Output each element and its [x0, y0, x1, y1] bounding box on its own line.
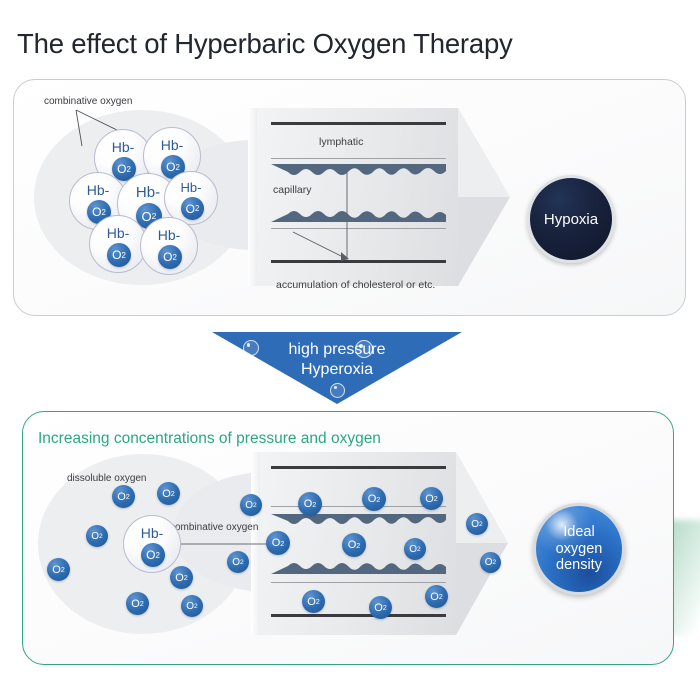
oxygen-molecule: O2 [298, 492, 322, 516]
hemoglobin-label: Hb- [90, 225, 146, 241]
oxygen-molecule: O2 [240, 494, 262, 516]
oxygen-molecule: O2 [112, 485, 135, 508]
hemoglobin-label: Hb- [141, 227, 197, 243]
cap-outer-top-b [271, 466, 446, 469]
bubble-icon-3 [330, 383, 345, 398]
cap-outer-bottom-b [271, 614, 446, 617]
cap-inner-bottom-b [271, 582, 446, 583]
bound-oxygen-molecule: O2 [107, 243, 131, 267]
oxygen-molecule: O2 [181, 595, 203, 617]
label-combinative-oxygen-bottom: combinative oxygen [170, 522, 258, 533]
bubble-icon-2 [355, 340, 373, 358]
hemoglobin-cell: Hb-O2 [123, 515, 181, 573]
bound-oxygen-molecule: O2 [181, 197, 204, 220]
bound-oxygen-molecule: O2 [141, 543, 165, 567]
oxygen-molecule: O2 [266, 531, 290, 555]
oxygen-molecule: O2 [227, 551, 249, 573]
bottom-panel-heading: Increasing concentrations of pressure an… [38, 430, 381, 448]
cap-inner-bottom [271, 228, 446, 229]
ideal-line-1: Ideal [563, 524, 594, 541]
hemoglobin-cell: Hb-O2 [89, 215, 147, 273]
oxygen-molecule: O2 [369, 596, 392, 619]
ideal-line-2: oxygen [556, 541, 603, 558]
bound-oxygen-molecule: O2 [158, 245, 182, 269]
cap-outer-bottom [271, 260, 446, 263]
oxygen-molecule: O2 [342, 533, 366, 557]
oxygen-molecule: O2 [425, 585, 448, 608]
page-title: The effect of Hyperbaric Oxygen Therapy [17, 28, 513, 60]
label-accumulation: accumulation of cholesterol or etc. [276, 279, 435, 291]
oxygen-molecule: O2 [466, 513, 488, 535]
oxygen-molecule: O2 [157, 482, 180, 505]
oxygen-molecule: O2 [404, 538, 426, 560]
hemoglobin-label: Hb- [165, 180, 217, 195]
oxygen-molecule: O2 [47, 558, 70, 581]
hemoglobin-label: Hb- [144, 137, 200, 153]
label-combinative-oxygen-top: combinative oxygen [44, 96, 132, 107]
cholesterol-lower-icon-b [271, 561, 446, 574]
hemoglobin-cell: Hb-O2 [140, 217, 198, 275]
capillary-diagram-top: lymphatic capillary [271, 120, 446, 275]
cap-inner-top [271, 158, 446, 159]
oxygen-molecule: O2 [420, 487, 443, 510]
oxygen-molecule: O2 [126, 592, 149, 615]
result-hypoxia: Hypoxia [527, 175, 615, 263]
cholesterol-lower-icon [271, 208, 446, 222]
label-capillary: capillary [273, 184, 312, 196]
cap-outer-top [271, 122, 446, 125]
oxygen-molecule: O2 [302, 590, 325, 613]
label-lymphatic: lymphatic [319, 136, 363, 148]
oxygen-molecule: O2 [480, 552, 501, 573]
cholesterol-upper-icon-b [271, 514, 446, 527]
result-ideal-oxygen-density: Ideal oxygen density [533, 503, 625, 595]
cholesterol-upper-icon [271, 164, 446, 178]
oxygen-molecule: O2 [86, 525, 108, 547]
oxygen-molecule: O2 [362, 487, 386, 511]
ideal-line-3: density [556, 557, 602, 574]
hemoglobin-label: Hb- [124, 525, 180, 541]
hypoxia-label: Hypoxia [544, 211, 598, 228]
label-dissoluble-oxygen: dissoluble oxygen [67, 473, 147, 484]
oxygen-molecule: O2 [170, 566, 193, 589]
bubble-icon-1 [243, 340, 259, 356]
arrow-head-highlight [458, 108, 510, 197]
